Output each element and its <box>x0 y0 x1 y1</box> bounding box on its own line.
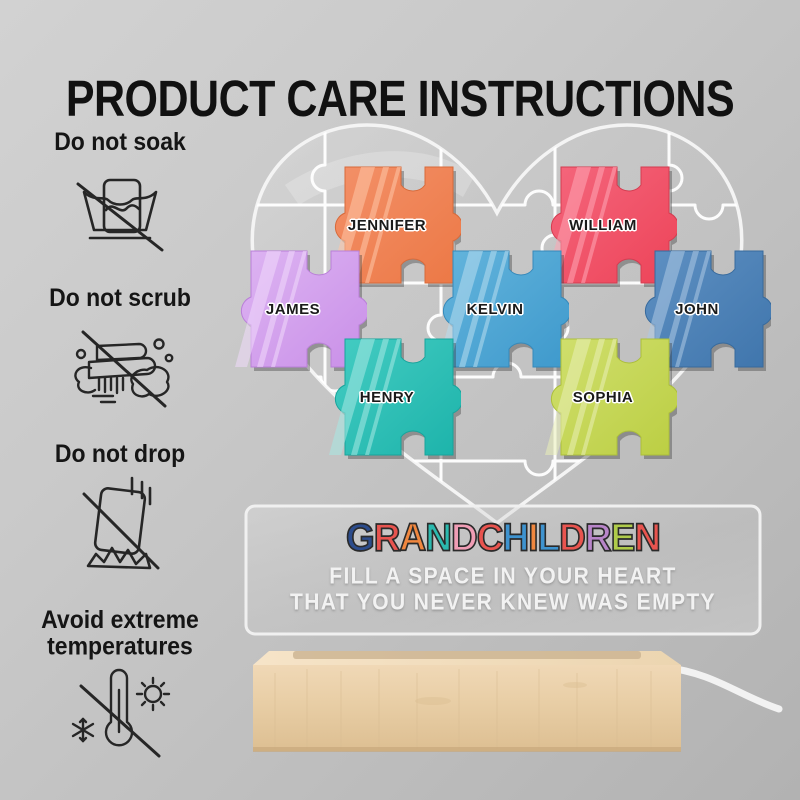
wooden-led-base <box>245 625 785 745</box>
care-item-do-not-drop: Do not drop <box>0 440 240 600</box>
headline-letter: G <box>346 516 374 560</box>
no-scrub-icon <box>55 314 185 410</box>
care-label-do-not-drop: Do not drop <box>0 440 240 467</box>
care-item-do-not-soak: Do not soak <box>0 128 240 278</box>
headline-letter: D <box>451 516 477 560</box>
product-care-poster: PRODUCT CARE INSTRUCTIONS Do not soak Do… <box>0 0 800 800</box>
headline-letter: C <box>477 516 503 560</box>
headline-letter: A <box>400 516 426 560</box>
headline-grandchildren: GRANDCHILDREN <box>243 517 763 559</box>
puzzle-piece-sophia[interactable]: SOPHIA <box>529 333 677 461</box>
care-instruction-list: Do not soak Do not scrub <box>0 128 240 782</box>
text-plaque: GRANDCHILDREN FILL A SPACE IN YOUR HEART… <box>243 503 763 643</box>
care-label-do-not-scrub: Do not scrub <box>0 284 240 311</box>
tagline-line-1: FILL A SPACE IN YOUR HEART <box>243 564 763 591</box>
no-soak-icon <box>60 158 180 258</box>
headline-letter: N <box>425 516 451 560</box>
care-item-do-not-scrub: Do not scrub <box>0 284 240 434</box>
headline-letter: L <box>537 516 559 560</box>
acrylic-slot <box>293 651 641 659</box>
headline-letter: H <box>502 516 528 560</box>
headline-letter: N <box>634 516 660 560</box>
acrylic-night-light-product: JENNIFER <box>225 105 800 765</box>
headline-letter: R <box>585 516 611 560</box>
headline-letter: R <box>374 516 400 560</box>
wood-knot <box>415 697 451 705</box>
care-label-avoid-extreme: Avoid extreme <box>0 606 240 633</box>
care-label-temperatures: temperatures <box>0 633 240 660</box>
tagline-line-2: THAT YOU NEVER KNEW WAS EMPTY <box>243 590 763 617</box>
no-drop-icon <box>58 470 182 578</box>
puzzle-piece-layer: JENNIFER <box>225 105 770 525</box>
care-item-avoid-extreme-temperatures: Avoid extreme temperatures <box>0 606 240 776</box>
wood-knot <box>563 682 587 688</box>
care-label-do-not-soak: Do not soak <box>0 128 240 155</box>
headline-letter: I <box>528 516 537 560</box>
heart-acrylic-plaque: JENNIFER <box>225 105 770 525</box>
base-bottom-edge <box>253 747 681 752</box>
puzzle-piece-henry[interactable]: HENRY <box>313 333 461 461</box>
no-extreme-temperature-icon <box>55 660 185 760</box>
headline-letter: D <box>559 516 585 560</box>
headline-letter: E <box>611 516 635 560</box>
